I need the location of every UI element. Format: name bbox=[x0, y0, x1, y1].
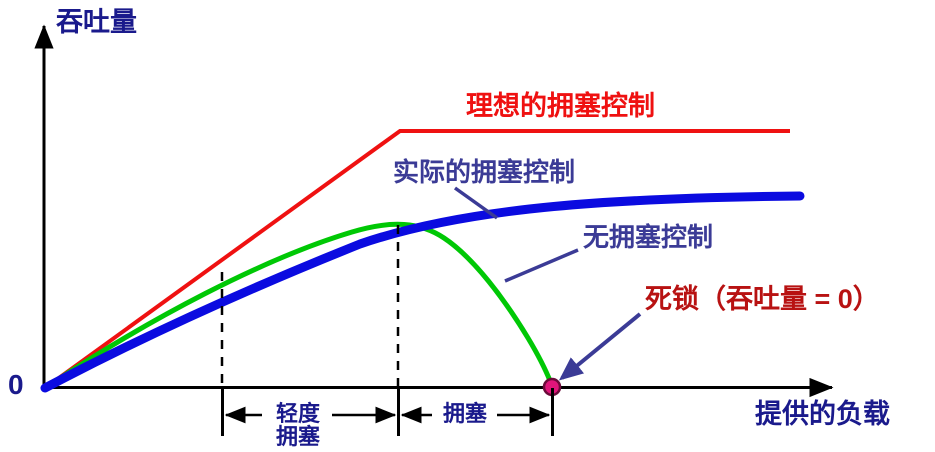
annotation-ideal-congestion-control: 理想的拥塞控制 bbox=[466, 92, 655, 120]
plot-canvas bbox=[0, 0, 935, 452]
annotation-deadlock: 死锁（吞吐量 = 0） bbox=[645, 285, 880, 313]
congestion-control-figure: 吞吐量 0 提供的负载 理想的拥塞控制 实际的拥塞控制 无拥塞控制 死锁（吞吐量… bbox=[0, 0, 935, 452]
leader-line-no-congestion bbox=[505, 250, 578, 281]
origin-label: 0 bbox=[8, 370, 24, 399]
range-label-mild-line2: 拥塞 bbox=[266, 425, 330, 448]
range-label-congestion-line1: 拥塞 bbox=[443, 401, 487, 426]
curve-no-congestion-control bbox=[45, 224, 552, 388]
annotation-practical-congestion-control: 实际的拥塞控制 bbox=[393, 159, 575, 186]
leader-arrow-deadlock bbox=[562, 314, 640, 378]
range-label-mild-line1: 轻度 bbox=[276, 401, 320, 426]
range-label-congestion: 拥塞 bbox=[437, 402, 493, 425]
annotation-no-congestion-control: 无拥塞控制 bbox=[583, 224, 713, 251]
y-axis-label: 吞吐量 bbox=[56, 8, 137, 36]
x-axis-label: 提供的负载 bbox=[755, 400, 890, 428]
range-label-mild-congestion: 轻度 拥塞 bbox=[266, 402, 330, 448]
